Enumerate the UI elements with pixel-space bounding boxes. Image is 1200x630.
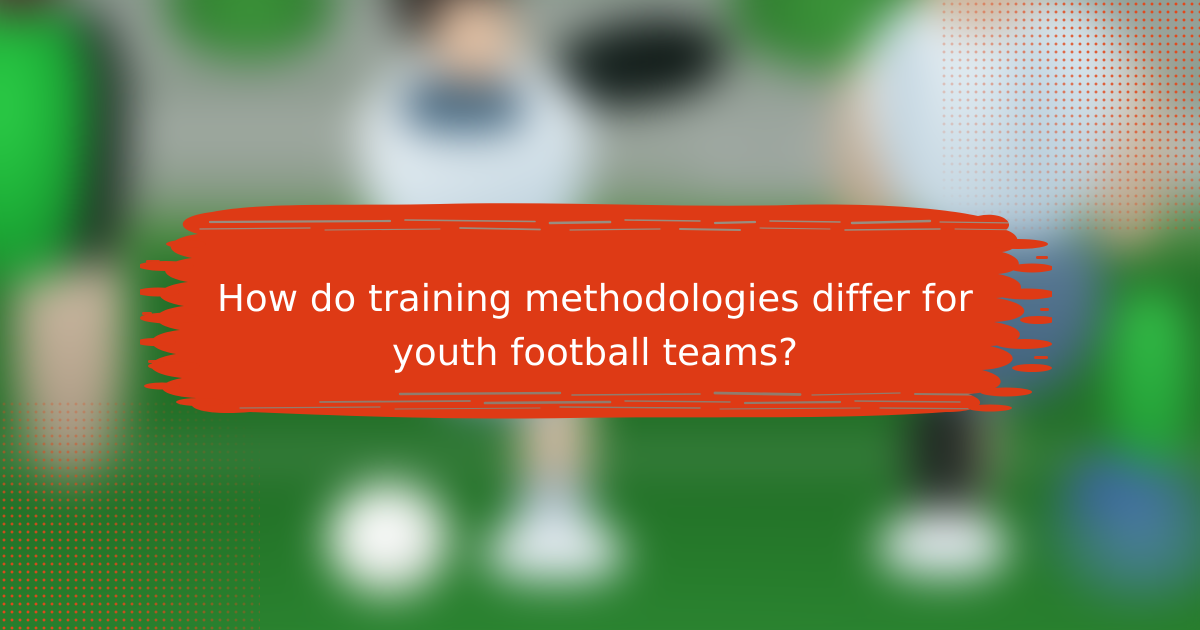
player-center-shoe xyxy=(484,520,624,582)
soccer-ball xyxy=(328,483,450,595)
player-right-jersey-stripe xyxy=(1020,18,1046,223)
player-left-legs xyxy=(15,250,125,480)
player-background-green-kit xyxy=(1110,290,1190,470)
social-card: How do training methodologies differ for… xyxy=(0,0,1200,630)
headline-text: How do training methodologies differ for… xyxy=(190,272,1000,380)
background-pitch-line xyxy=(0,443,1200,469)
player-right-shoe xyxy=(878,512,1008,578)
